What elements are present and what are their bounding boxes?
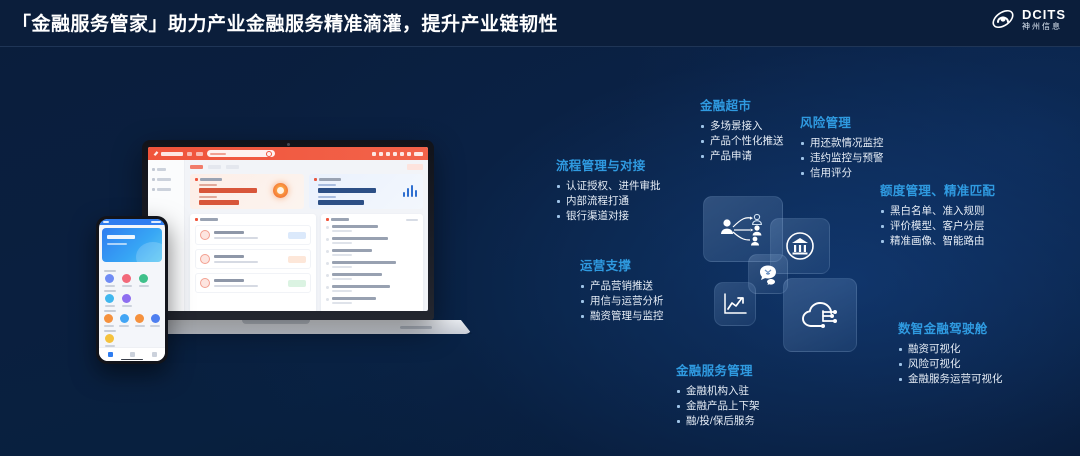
app-entry[interactable] [103,274,116,287]
callout-item: 黑白名单、准入规则 [880,204,995,219]
bullet-icon [326,298,329,301]
app-entry[interactable] [119,314,131,327]
bar-chart-icon [403,184,418,197]
app-icon [122,294,131,303]
callout-item: 融资管理与监控 [580,309,664,324]
dashboard-panels [190,214,423,311]
callout-risk-management: 风险管理 用还款情况监控 违约监控与预警 信用评分 [800,112,884,181]
brand-logo: DCITS 神州信息 [990,6,1066,32]
app-entry[interactable] [150,314,162,327]
stat-label [199,196,217,198]
search-icon [266,151,272,157]
status-badge [288,256,306,263]
bank-building-icon [783,229,817,263]
bullet-icon [326,262,329,265]
list-item[interactable] [326,225,418,232]
callout-item: 银行渠道对接 [556,209,661,224]
stat-label [318,196,336,198]
callout-item: 产品申请 [700,149,784,164]
table-row[interactable] [195,249,311,269]
callout-item: 用还款情况监控 [800,136,884,151]
dashboard-main [185,160,428,311]
home-indicator [121,359,143,361]
icon-row [103,314,161,327]
phone-mockup [96,216,168,364]
callout-operation-support: 运营支撑 产品营销推送 用信与运营分析 融资管理与监控 [580,255,664,324]
phone-statusbar [99,219,165,225]
card-title [319,178,341,181]
stat-value [199,200,239,205]
icon-row [103,294,161,307]
gear-icon[interactable] [400,152,404,156]
callout-title: 金融超市 [700,95,784,114]
status-dot-icon [200,230,210,240]
panel-header [195,218,311,221]
row-text [214,231,284,239]
bell-icon[interactable] [379,152,383,156]
tile-cloud-tech [783,278,857,352]
callout-list: 黑白名单、准入规则 评价模型、客户分层 精准画像、智能路由 [880,204,995,249]
callout-item: 金融服务运营可视化 [898,372,1003,387]
laptop-screen [148,147,428,311]
app-icon [105,274,114,283]
app-label [119,325,129,327]
stat-label [199,184,217,186]
slide-root: 「金融服务管家」助力产业金融服务精准滴灌，提升产业链韧性 DCITS 神州信息 [0,0,1080,456]
app-icon [105,294,114,303]
app-label [150,325,160,327]
panel-news-list [321,214,423,311]
app-icon [120,314,129,323]
app-icon [139,274,148,283]
header-bar: 「金融服务管家」助力产业金融服务精准滴灌，提升产业链韧性 DCITS 神州信息 [0,0,1080,47]
stat-cards [190,174,423,209]
section-label [104,330,116,332]
dcits-swirl-icon [990,6,1016,32]
callout-item: 融/投/保后服务 [676,414,760,429]
row-text [214,279,284,287]
mail-icon[interactable] [386,152,390,156]
callout-list: 多场景接入 产品个性化推送 产品申请 [700,119,784,164]
dashboard-brand [153,151,183,157]
callout-item: 多场景接入 [700,119,784,134]
card-icon [314,178,317,181]
logo-cn: 神州信息 [1022,23,1066,31]
app-label [105,285,115,287]
callout-digital-finance-cockpit: 数智金融驾驶舱 融资可视化 风险可视化 金融服务运营可视化 [898,318,1003,387]
app-icon [135,314,144,323]
sidebar-item[interactable] [152,178,180,181]
list-item[interactable] [326,249,418,256]
laptop-camera-icon [287,143,290,146]
stat-value [318,188,376,193]
banner-title [107,235,135,239]
tab-overview[interactable] [190,165,203,169]
app-entry[interactable] [134,314,146,327]
chart-icon [152,188,155,191]
sidebar-item[interactable] [152,188,180,191]
dashboard-topbar [148,147,428,160]
icon-row [103,334,161,347]
cloud-tech-icon [797,295,843,335]
app-label [135,325,145,327]
callout-item: 违约监控与预警 [800,151,884,166]
bullet-icon [326,250,329,253]
logo-en: DCITS [1022,8,1066,21]
callout-list: 产品营销推送 用信与运营分析 融资管理与监控 [580,279,664,324]
callout-title: 数智金融驾驶舱 [898,318,1003,337]
app-icon [151,314,160,323]
dashboard-body [148,160,428,311]
highlight-badge-icon [273,183,288,198]
icon-cluster [700,196,865,361]
tab-home-icon[interactable] [108,352,113,357]
callout-item: 金融产品上下架 [676,399,760,414]
callout-list: 用还款情况监控 违约监控与预警 信用评分 [800,136,884,181]
table-row[interactable] [195,225,311,245]
bullet-icon [326,238,329,241]
panel-header [326,218,418,221]
sidebar-item-label [157,188,171,191]
section-label [104,290,116,292]
card-icon [195,178,198,181]
app-entry[interactable] [120,294,133,307]
callout-item: 用信与运营分析 [580,294,664,309]
callout-financial-service-management: 金融服务管理 金融机构入驻 金融产品上下架 融/投/保后服务 [676,360,760,429]
list-item[interactable] [326,297,418,304]
list-item[interactable] [326,261,418,268]
callout-item: 产品营销推送 [580,279,664,294]
app-entry[interactable] [137,274,150,287]
list-item[interactable] [326,285,418,292]
search-placeholder [210,153,226,155]
brand-name [161,152,183,156]
callout-item: 融资可视化 [898,342,1003,357]
card-header [314,178,418,181]
callout-item: 评价模型、客户分层 [880,219,995,234]
row-text [214,255,284,263]
callout-list: 金融机构入驻 金融产品上下架 融/投/保后服务 [676,384,760,429]
callout-item: 风险可视化 [898,357,1003,372]
stat-value [199,188,257,193]
section-label [104,270,116,272]
tab-third[interactable] [226,165,239,169]
callout-process-management: 流程管理与对接 认证授权、进件审批 内部流程打通 银行渠道对接 [556,155,661,224]
tab-profile-icon[interactable] [152,352,157,357]
app-entry[interactable] [103,334,116,347]
logo-text: DCITS 神州信息 [1022,8,1066,31]
stat-card-financing [190,174,304,209]
status-dot-icon [200,278,210,288]
help-icon[interactable] [393,152,397,156]
app-icon [105,334,114,343]
callout-item: 金融机构入驻 [676,384,760,399]
panel-todo-list [190,214,316,311]
doc-icon [152,178,155,181]
clock-text [103,221,109,223]
app-label [105,305,115,307]
tab-service-icon[interactable] [130,352,135,357]
callout-title: 运营支撑 [580,255,664,274]
app-entry[interactable] [103,314,115,327]
laptop-lid [142,140,434,320]
tab-second[interactable] [208,165,221,169]
app-icon [122,274,131,283]
bullet-icon [326,226,329,229]
sidebar-item-label [157,168,166,171]
app-label [104,325,114,327]
brand-glyph-icon [153,151,159,157]
banner-subtitle [107,243,127,245]
more-link[interactable] [406,219,418,221]
callout-item: 认证授权、进件审批 [556,179,661,194]
app-label [122,305,132,307]
callout-title: 金融服务管理 [676,360,760,379]
status-badge [288,280,306,287]
sidebar-item[interactable] [152,168,180,171]
primary-action-button[interactable] [407,164,423,170]
money-exchange-icon [756,262,780,286]
icon-row [103,274,161,287]
panel-icon [326,218,329,221]
table-row[interactable] [195,273,311,293]
bullet-icon [326,274,329,277]
apps-icon[interactable] [372,152,376,156]
people-network-icon [718,212,768,246]
stat-label [318,184,336,186]
laptop-foot [400,326,432,329]
trend-chart-icon [722,292,748,316]
card-title [200,178,222,181]
callout-item: 信用评分 [800,166,884,181]
list-item[interactable] [326,237,418,244]
tile-trend-chart [714,282,756,326]
sidebar-item-label [157,178,171,181]
status-badge [288,232,306,239]
stat-card-credit [309,174,423,209]
callout-financial-supermarket: 金融超市 多场景接入 产品个性化推送 产品申请 [700,95,784,164]
laptop-trackpad-notch [242,320,310,324]
username [414,152,423,156]
app-entry[interactable] [120,274,133,287]
app-label [122,285,132,287]
callout-item: 产品个性化推送 [700,134,784,149]
panel-title [331,218,349,221]
avatar[interactable] [407,152,411,156]
card-header [195,178,299,181]
callout-list: 融资可视化 风险可视化 金融服务运营可视化 [898,342,1003,387]
callout-title: 流程管理与对接 [556,155,661,174]
nav-item[interactable] [196,152,203,156]
phone-banner [102,228,162,262]
section-label [104,310,116,312]
home-icon [152,168,155,171]
status-dot-icon [200,254,210,264]
callout-item: 精准画像、智能路由 [880,234,995,249]
phone-screen [99,219,165,361]
callout-quota-management: 额度管理、精准匹配 黑白名单、准入规则 评价模型、客户分层 精准画像、智能路由 [880,180,995,249]
phone-icon-grid [99,265,165,349]
callout-title: 风险管理 [800,112,884,131]
panel-title [200,218,218,221]
page-title: 「金融服务管家」助力产业金融服务精准滴灌，提升产业链韧性 [12,9,558,36]
callout-title: 额度管理、精准匹配 [880,180,995,199]
app-entry[interactable] [103,294,116,307]
dashboard-tabs[interactable] [190,164,423,170]
panel-icon [195,218,198,221]
app-icon [104,314,113,323]
dashboard-search-input[interactable] [207,150,275,157]
signal-icon [151,221,161,223]
callout-list: 认证授权、进件审批 内部流程打通 银行渠道对接 [556,179,661,224]
stat-value [318,200,364,205]
nav-item[interactable] [187,152,192,156]
list-item[interactable] [326,273,418,280]
bullet-icon [326,286,329,289]
device-mockups [96,140,456,340]
app-label [139,285,149,287]
dashboard-toolbar-icons[interactable] [372,152,423,156]
callout-item: 内部流程打通 [556,194,661,209]
